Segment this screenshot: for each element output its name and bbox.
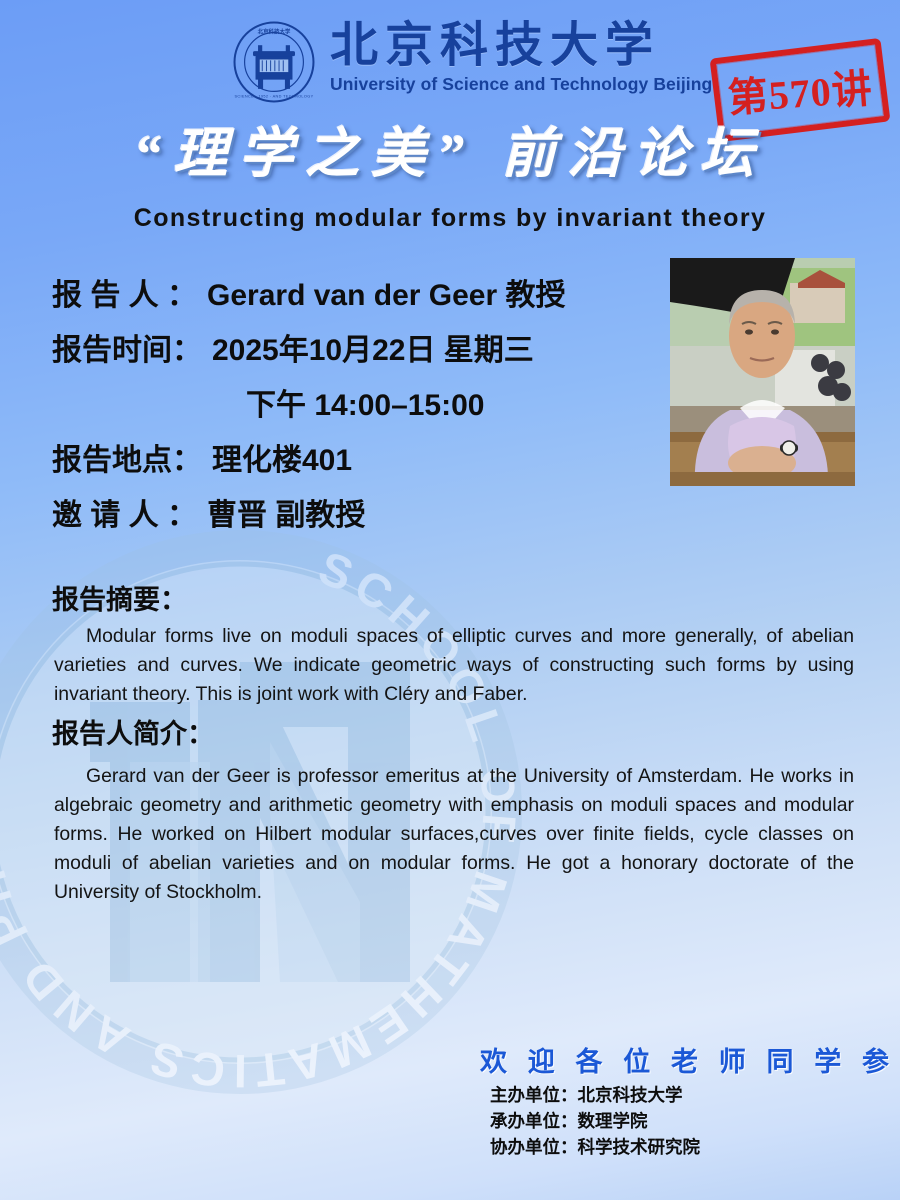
university-identity: 北京科技大学 SCIENCE · 1952 · AND TECHNOLOGY 北… <box>232 20 712 104</box>
university-name-cn: 北京科技大学 <box>330 20 712 72</box>
speaker-label: 报 告 人 ： <box>52 268 197 323</box>
bio-body: Gerard van der Geer is professor emeritu… <box>54 765 854 903</box>
time-label: 报告时间： <box>52 323 202 378</box>
lecture-title-en: Constructing modular forms by invariant … <box>0 204 900 233</box>
abstract-text: Modular forms live on moduli spaces of e… <box>54 622 854 709</box>
organizer-coorganizer: 协办单位：科学技术研究院 <box>490 1134 700 1160</box>
time-value: 2025年10月22日 星期三 <box>212 323 534 378</box>
organizer-list: 主办单位：北京科技大学 承办单位：数理学院 协办单位：科学技术研究院 <box>490 1082 700 1160</box>
organizer-undertaker: 承办单位：数理学院 <box>490 1108 700 1134</box>
abstract-body: Modular forms live on moduli spaces of e… <box>54 625 854 705</box>
host-value: 曹晋 副教授 <box>207 488 365 543</box>
info-row-speaker: 报 告 人 ： Gerard van der Geer 教授 <box>52 268 692 323</box>
host-label: 邀 请 人 ： <box>52 488 197 543</box>
university-seal-icon: 北京科技大学 SCIENCE · 1952 · AND TECHNOLOGY <box>232 20 316 104</box>
bio-text: Gerard van der Geer is professor emeritu… <box>54 762 854 907</box>
info-row-host: 邀 请 人 ： 曹晋 副教授 <box>52 488 692 543</box>
info-row-time-second: 下午 14:00–15:00 <box>52 378 692 433</box>
organizer-host: 主办单位：北京科技大学 <box>490 1082 700 1108</box>
university-name-en: University of Science and Technology Bei… <box>330 74 712 95</box>
time-value-2: 下午 14:00–15:00 <box>246 378 484 433</box>
speaker-photo <box>670 258 855 486</box>
speaker-value: Gerard van der Geer 教授 <box>207 268 565 323</box>
svg-text:SCIENCE · 1952 · AND TECHNOLOG: SCIENCE · 1952 · AND TECHNOLOGY <box>235 94 314 98</box>
svg-text:北京科技大学: 北京科技大学 <box>258 27 291 35</box>
welcome-message: 欢 迎 各 位 老 师 同 学 参 加 ! <box>480 1040 900 1079</box>
abstract-heading: 报告摘要： <box>52 578 187 617</box>
bio-heading: 报告人简介： <box>52 712 214 751</box>
info-row-time: 报告时间： 2025年10月22日 星期三 <box>52 323 692 378</box>
venue-label: 报告地点： <box>52 433 202 488</box>
poster-header: 北京科技大学 SCIENCE · 1952 · AND TECHNOLOGY 北… <box>0 0 900 118</box>
poster: SCHOOL OF MATHEMATICS AND PHYSICS <box>0 0 900 1200</box>
lecture-info-block: 报 告 人 ： Gerard van der Geer 教授 报告时间： 202… <box>52 268 692 543</box>
forum-title-cn: “理学之美” 前沿论坛 <box>0 118 900 190</box>
info-row-venue: 报告地点： 理化楼401 <box>52 433 692 488</box>
venue-value: 理化楼401 <box>212 433 352 488</box>
